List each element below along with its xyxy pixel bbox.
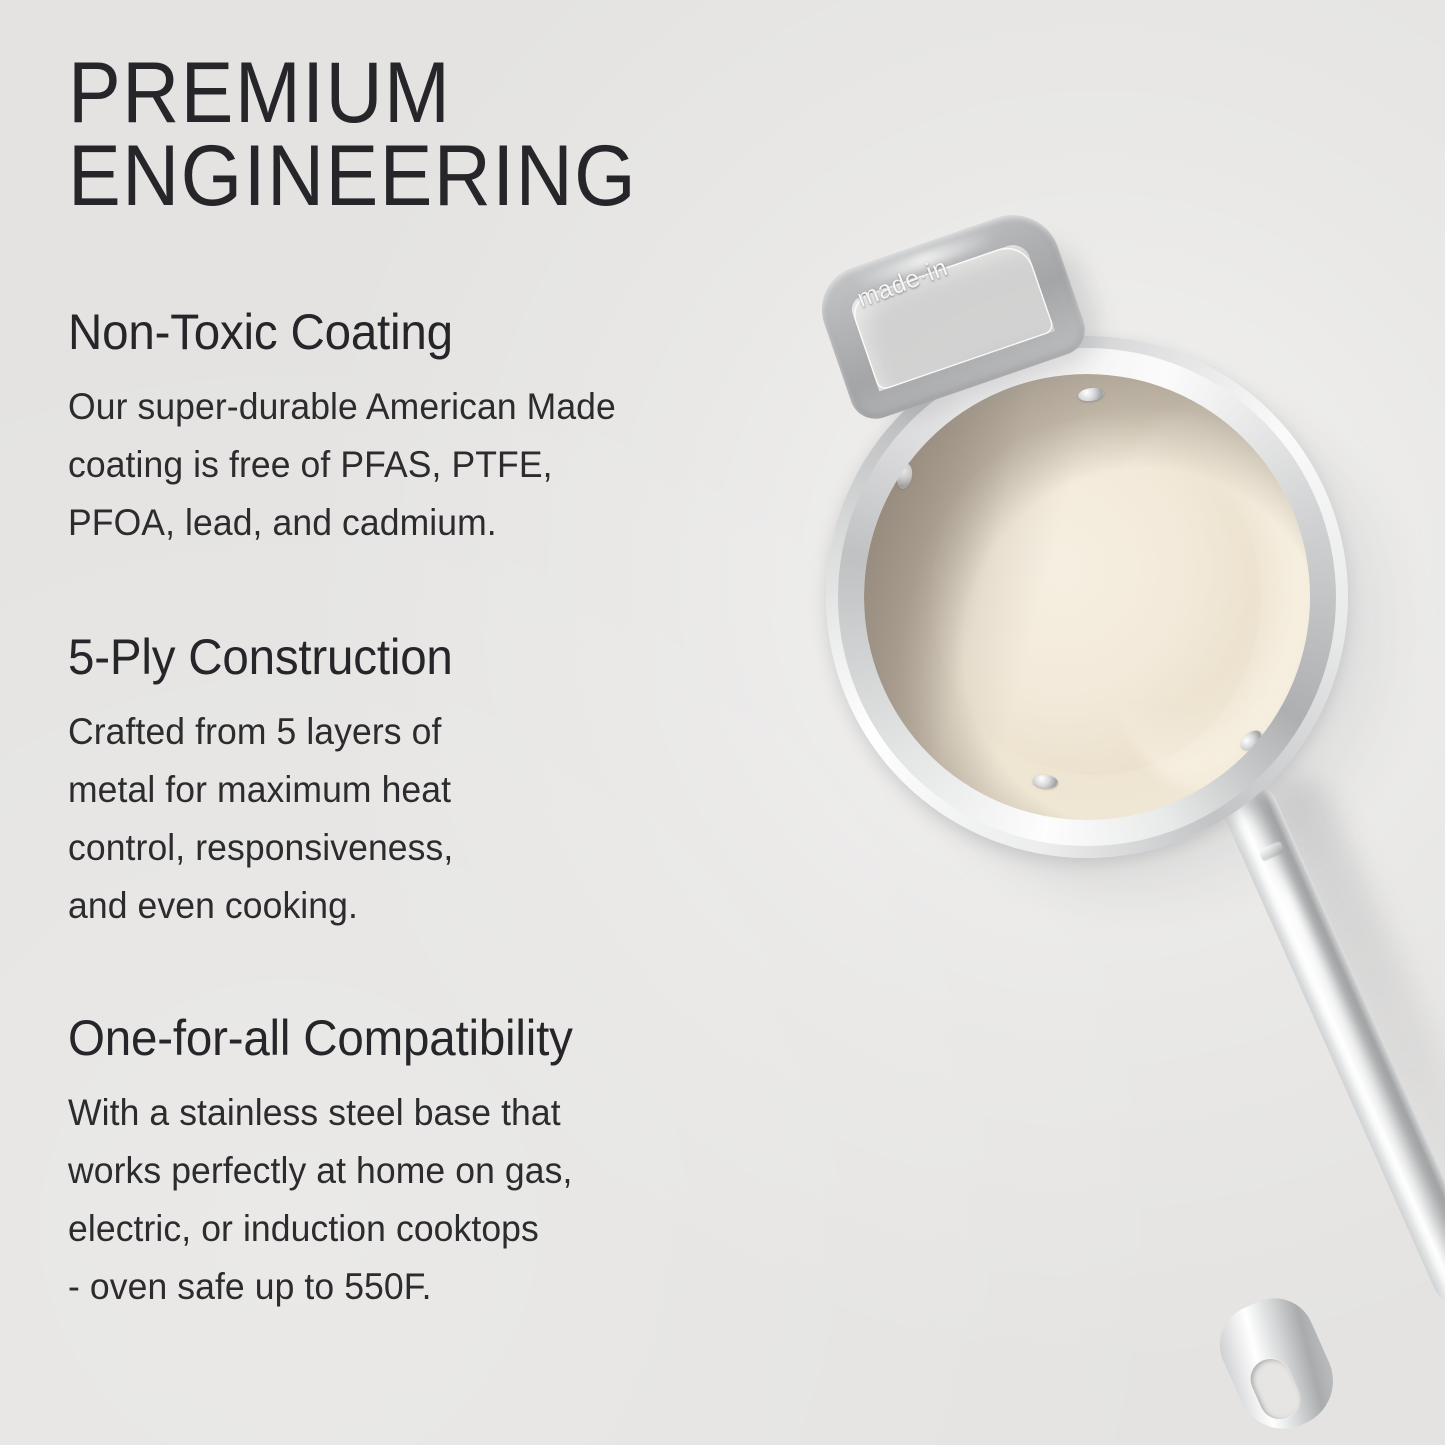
handle-stamp-mark: [1258, 841, 1285, 862]
feature-heading: One-for-all Compatibility: [68, 1011, 819, 1066]
feature-heading: 5-Ply Construction: [68, 630, 819, 685]
pan-ceramic-interior: [864, 374, 1310, 820]
pan-rim: [838, 348, 1336, 846]
feature-body: Our super-durable American Made coating …: [68, 378, 807, 552]
product-infographic: PREMIUM ENGINEERING Non-Toxic Coating Ou…: [0, 0, 1445, 1445]
feature-section-5-ply-construction: 5-Ply Construction Crafted from 5 layers…: [68, 630, 858, 935]
feature-section-one-for-all-compatibility: One-for-all Compatibility With a stainle…: [68, 1011, 858, 1316]
feature-body: With a stainless steel base that works p…: [68, 1084, 807, 1316]
pan-interior-shadow: [864, 374, 1310, 820]
feature-section-non-toxic-coating: Non-Toxic Coating Our super-durable Amer…: [68, 305, 858, 552]
feature-heading: Non-Toxic Coating: [68, 305, 819, 360]
text-column: PREMIUM ENGINEERING Non-Toxic Coating Ou…: [68, 52, 858, 1316]
feature-body: Crafted from 5 layers of metal for maxim…: [68, 703, 807, 935]
product-image-saucepan: made·in: [760, 180, 1445, 1445]
page-title: PREMIUM ENGINEERING: [68, 52, 795, 219]
